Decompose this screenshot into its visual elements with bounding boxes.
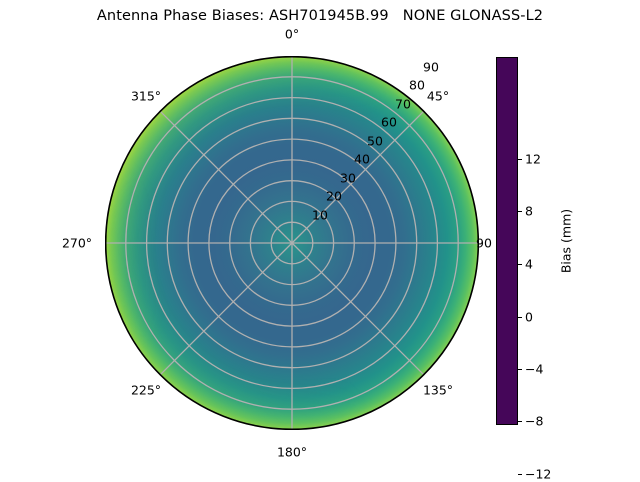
theta-tick-label-270: 270°	[62, 236, 92, 251]
colorbar-tickmark-m12	[518, 474, 522, 475]
angular-gridlines	[105, 56, 479, 430]
colorbar-ticklabel-0: 0	[525, 310, 533, 325]
colorbar-axis-label: Bias (mm)	[559, 209, 574, 273]
colorbar-ticklabel-m4: −4	[525, 362, 543, 377]
colorbar-tickmark-m4	[518, 369, 522, 370]
theta-tick-label-0: 0°	[285, 27, 299, 42]
colorbar[interactable]: 12 8 4 0 −4 −8 −12	[496, 57, 518, 425]
theta-tick-label-180: 180°	[277, 445, 307, 460]
chart-title: Antenna Phase Biases: ASH701945B.99 NONE…	[0, 8, 640, 24]
theta-tick-label-135: 135°	[423, 383, 453, 398]
colorbar-ticklabel-4: 4	[525, 257, 533, 272]
theta-tick-label-225: 225°	[131, 383, 161, 398]
colorbar-ticklabel-12: 12	[525, 152, 541, 167]
colorbar-ticklabel-m8: −8	[525, 414, 543, 429]
colorbar-tickmark-0	[518, 317, 522, 318]
polar-plot-surface[interactable]	[105, 56, 479, 430]
colorbar-tickmark-4	[518, 264, 522, 265]
figure-canvas: Antenna Phase Biases: ASH701945B.99 NONE…	[0, 0, 640, 480]
colorbar-ticklabel-m12: −12	[525, 467, 551, 482]
polar-axes[interactable]: 10 20 30 40 50 60 70 80 90 0° 45° 135° 1…	[105, 56, 479, 430]
theta-tick-label-315: 315°	[131, 89, 161, 104]
theta-tick-label-90: 90	[476, 236, 492, 251]
colorbar-ticklabel-8: 8	[525, 204, 533, 219]
colorbar-tickmark-m8	[518, 421, 522, 422]
colorbar-gradient	[496, 57, 518, 425]
colorbar-tickmark-12	[518, 159, 522, 160]
colorbar-tickmark-8	[518, 211, 522, 212]
theta-tick-label-45: 45°	[427, 89, 449, 104]
